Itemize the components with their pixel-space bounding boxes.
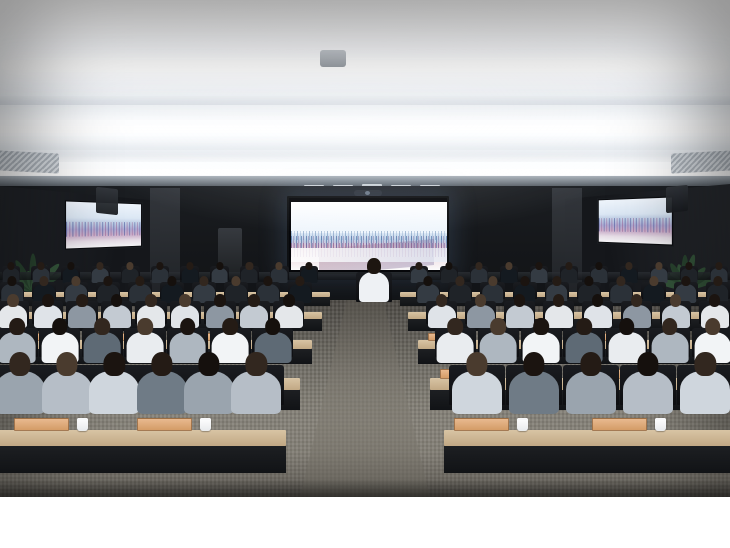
attendee-torso bbox=[623, 371, 673, 414]
attendee-head bbox=[695, 352, 716, 376]
attendee-torso bbox=[680, 371, 730, 414]
attendee-head bbox=[595, 262, 602, 270]
attendee-head bbox=[231, 276, 240, 286]
paper-cup bbox=[77, 418, 88, 432]
attendee-head bbox=[456, 276, 465, 286]
attendee-head bbox=[295, 276, 304, 286]
paper-cup bbox=[655, 418, 666, 432]
attendee-head bbox=[9, 352, 30, 376]
attendee-head bbox=[7, 294, 19, 307]
attendee-torso bbox=[509, 371, 559, 414]
attendee-head bbox=[283, 294, 295, 307]
attendee-torso bbox=[152, 268, 169, 282]
attendee-torso bbox=[181, 268, 198, 282]
ceiling-light-strip bbox=[2, 60, 727, 70]
attendee-head bbox=[367, 258, 381, 274]
attendee-head bbox=[135, 276, 144, 286]
attendee-torso bbox=[89, 371, 139, 414]
attendee-torso bbox=[241, 268, 258, 282]
attendee-head bbox=[662, 318, 678, 335]
attendee-torso bbox=[42, 371, 92, 414]
attendee-head bbox=[167, 276, 176, 286]
attendee-head bbox=[553, 294, 565, 307]
attendee-head bbox=[103, 276, 112, 286]
attendee-torso bbox=[184, 371, 234, 414]
attendee-head bbox=[214, 294, 226, 307]
wall-speaker bbox=[666, 185, 688, 213]
attendee-head bbox=[619, 318, 635, 335]
attendee-head bbox=[306, 262, 313, 270]
attendee-head bbox=[104, 352, 125, 376]
attendee-head bbox=[246, 262, 253, 270]
attendee-head bbox=[186, 262, 193, 270]
attendee-head bbox=[137, 318, 153, 335]
attendee-head bbox=[52, 318, 68, 335]
attendee-head bbox=[514, 294, 526, 307]
attendee-head bbox=[490, 318, 506, 335]
attendee-torso bbox=[471, 268, 488, 282]
attendee-head bbox=[715, 262, 722, 270]
attendee-head bbox=[505, 262, 512, 270]
desk-name-card bbox=[14, 418, 69, 432]
desk bbox=[444, 430, 730, 446]
attendee-head bbox=[67, 262, 74, 270]
attendee-head bbox=[713, 276, 722, 286]
attendee-head bbox=[709, 294, 721, 307]
attendee-head bbox=[127, 262, 134, 270]
attendee-head bbox=[56, 352, 77, 376]
attendee-torso bbox=[271, 268, 288, 282]
attendee-torso bbox=[359, 272, 389, 302]
attendee-head bbox=[39, 276, 48, 286]
attendee-head bbox=[475, 294, 487, 307]
desk-panel bbox=[444, 446, 730, 473]
attendee-head bbox=[151, 352, 172, 376]
attendee-head bbox=[655, 262, 662, 270]
attendee-torso bbox=[137, 371, 187, 414]
attendee-torso bbox=[193, 284, 215, 302]
attendee-head bbox=[42, 294, 54, 307]
desk-name-card bbox=[592, 418, 647, 432]
attendee-torso bbox=[561, 268, 578, 282]
attendee-head bbox=[638, 352, 659, 376]
attendee-head bbox=[265, 318, 281, 335]
hvac-vent bbox=[0, 150, 59, 173]
attendee-head bbox=[37, 262, 44, 270]
attendee-head bbox=[424, 276, 433, 286]
attendee-head bbox=[179, 294, 191, 307]
attendee-head bbox=[585, 276, 594, 286]
attendee-head bbox=[445, 262, 452, 270]
ceiling-band bbox=[0, 150, 730, 157]
attendee-head bbox=[111, 294, 123, 307]
attendee-head bbox=[7, 262, 14, 270]
attendee-head bbox=[9, 318, 25, 335]
attendee-head bbox=[670, 294, 682, 307]
attendee-torso bbox=[531, 268, 548, 282]
attendee-head bbox=[592, 294, 604, 307]
attendee-torso bbox=[450, 284, 472, 302]
paper-cup bbox=[517, 418, 528, 432]
desk bbox=[0, 430, 286, 446]
attendee-head bbox=[685, 262, 692, 270]
attendee-head bbox=[649, 276, 658, 286]
screenshot-page bbox=[0, 0, 730, 548]
attendee-head bbox=[617, 276, 626, 286]
attendee-head bbox=[488, 276, 497, 286]
attendee-head bbox=[533, 318, 549, 335]
attendee-head bbox=[625, 262, 632, 270]
white-page-margin bbox=[0, 497, 730, 548]
ceiling-band bbox=[0, 96, 730, 105]
attendee-head bbox=[523, 352, 544, 376]
attendee-torso bbox=[257, 284, 279, 302]
attendee-torso bbox=[225, 284, 247, 302]
desk-panel bbox=[0, 446, 286, 473]
wall-speaker bbox=[96, 187, 118, 215]
attendee-head bbox=[156, 262, 163, 270]
attendee-head bbox=[415, 262, 422, 270]
attendee-head bbox=[565, 262, 572, 270]
attendee-head bbox=[631, 294, 643, 307]
attendee-head bbox=[248, 294, 260, 307]
attendee-torso bbox=[566, 371, 616, 414]
attendee-torso bbox=[211, 268, 228, 282]
attendee-torso bbox=[68, 305, 96, 329]
attendee-torso bbox=[231, 371, 281, 414]
paper-cup bbox=[200, 418, 211, 432]
attendee-head bbox=[199, 276, 208, 286]
attendee-head bbox=[475, 262, 482, 270]
attendee-head bbox=[71, 276, 80, 286]
attendee-head bbox=[180, 318, 196, 335]
attendee-head bbox=[535, 262, 542, 270]
attendee-torso bbox=[506, 305, 534, 329]
desk-name-card bbox=[454, 418, 509, 432]
conference-room-photo bbox=[0, 0, 730, 497]
hvac-vent bbox=[671, 150, 730, 173]
attendee-head bbox=[7, 276, 16, 286]
attendee-head bbox=[216, 262, 223, 270]
attendee-torso bbox=[501, 268, 518, 282]
attendee-head bbox=[76, 294, 88, 307]
attendee-torso bbox=[643, 284, 665, 302]
ceiling bbox=[0, 0, 730, 190]
attendee-torso bbox=[611, 284, 633, 302]
attendee-head bbox=[145, 294, 157, 307]
attendee-torso bbox=[0, 371, 45, 414]
left-screen-skyline bbox=[66, 222, 141, 236]
attendee-head bbox=[263, 276, 272, 286]
screen-sky bbox=[291, 202, 447, 233]
attendee-head bbox=[681, 276, 690, 286]
attendee-head bbox=[95, 318, 111, 335]
attendee-head bbox=[448, 318, 464, 335]
attendee-head bbox=[580, 352, 601, 376]
attendee-torso bbox=[452, 371, 502, 414]
ceiling-light-strip bbox=[0, 169, 730, 175]
attendee-head bbox=[552, 276, 561, 286]
attendee-head bbox=[276, 262, 283, 270]
attendee-head bbox=[246, 352, 267, 376]
attendee-head bbox=[97, 262, 104, 270]
attendee-head bbox=[705, 318, 721, 335]
desk-name-card bbox=[137, 418, 192, 432]
attendee-head bbox=[520, 276, 529, 286]
attendee-head bbox=[198, 352, 219, 376]
attendee-head bbox=[576, 318, 592, 335]
attendee-head bbox=[466, 352, 487, 376]
attendee-head bbox=[436, 294, 448, 307]
ceiling-light-strip bbox=[0, 126, 730, 133]
attendee-head bbox=[222, 318, 238, 335]
ceiling-projector bbox=[320, 50, 346, 67]
